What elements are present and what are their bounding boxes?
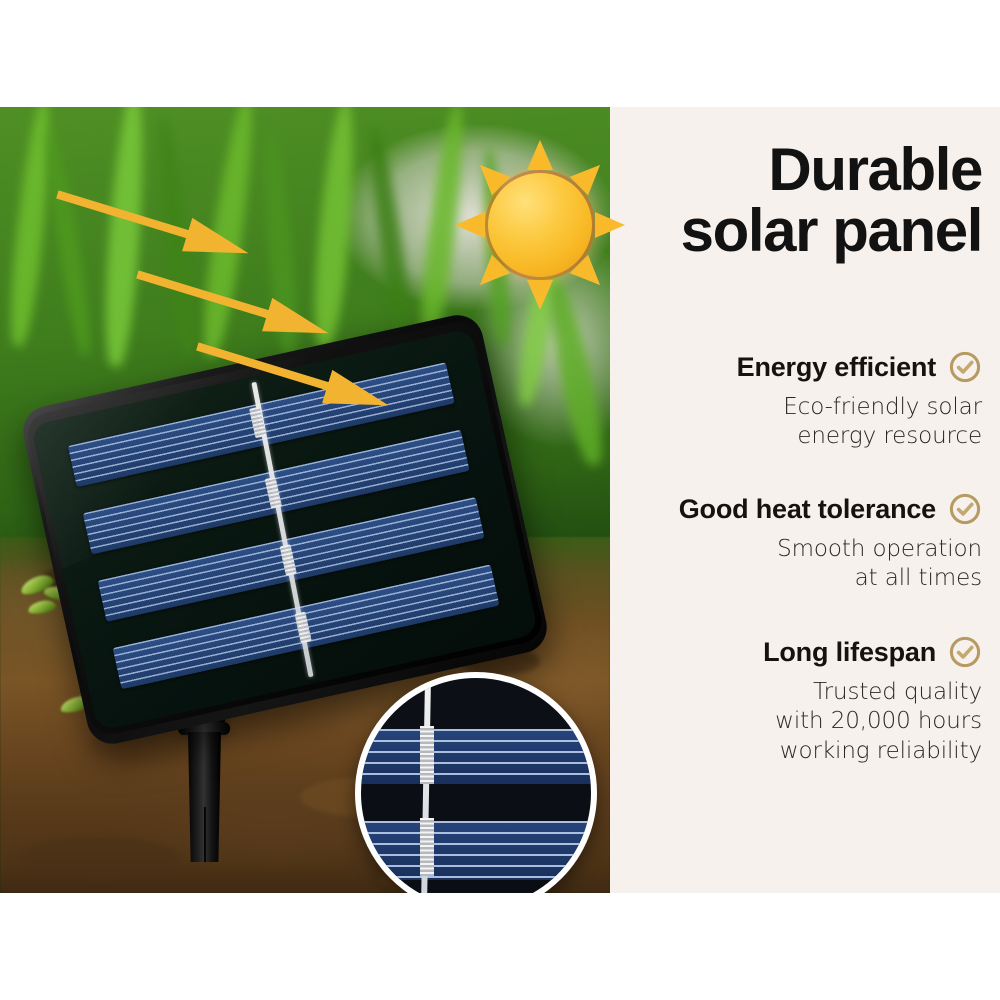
panel-face bbox=[30, 328, 538, 731]
stake-lower bbox=[188, 732, 221, 862]
magnified-cell-band bbox=[355, 729, 597, 784]
check-circle-icon bbox=[948, 492, 982, 526]
magnified-solder-joint bbox=[420, 818, 434, 876]
feature-item-good-heat-tolerance: Good heat tolerance Smooth operation at … bbox=[612, 492, 982, 594]
feature-desc-line: working reliability bbox=[612, 737, 982, 766]
sun-core bbox=[488, 173, 592, 277]
feature-title: Energy efficient bbox=[737, 352, 936, 383]
check-circle-icon bbox=[948, 635, 982, 669]
feature-title: Good heat tolerance bbox=[679, 494, 936, 525]
feature-heading-row: Good heat tolerance bbox=[612, 492, 982, 526]
feature-heading-row: Energy efficient bbox=[612, 350, 982, 384]
feature-desc-line: Eco-friendly solar bbox=[612, 393, 982, 422]
feature-panel: Durable solar panel Energy efficient Eco… bbox=[610, 107, 1000, 893]
feature-heading-row: Long lifespan bbox=[612, 635, 982, 669]
heading-line-1: Durable bbox=[610, 139, 982, 200]
sun-icon bbox=[455, 140, 625, 310]
feature-desc-line: at all times bbox=[612, 564, 982, 593]
feature-description: Smooth operation at all times bbox=[612, 535, 982, 594]
magnified-solder-joint bbox=[420, 726, 434, 784]
feature-desc-line: with 20,000 hours bbox=[612, 707, 982, 736]
feature-title: Long lifespan bbox=[763, 637, 936, 668]
heading-line-2: solar panel bbox=[610, 200, 982, 261]
magnified-cell-band bbox=[355, 821, 597, 881]
page-title: Durable solar panel bbox=[610, 139, 982, 261]
feature-desc-line: Smooth operation bbox=[612, 535, 982, 564]
feature-item-energy-efficient: Energy efficient Eco-friendly solar ener… bbox=[612, 350, 982, 452]
feature-description: Eco-friendly solar energy resource bbox=[612, 393, 982, 452]
check-circle-icon bbox=[948, 350, 982, 384]
feature-description: Trusted quality with 20,000 hours workin… bbox=[612, 678, 982, 766]
feature-desc-line: energy resource bbox=[612, 422, 982, 451]
feature-desc-line: Trusted quality bbox=[612, 678, 982, 707]
feature-item-long-lifespan: Long lifespan Trusted quality with 20,00… bbox=[612, 635, 982, 766]
product-feature-image: Durable solar panel Energy efficient Eco… bbox=[0, 0, 1000, 1000]
